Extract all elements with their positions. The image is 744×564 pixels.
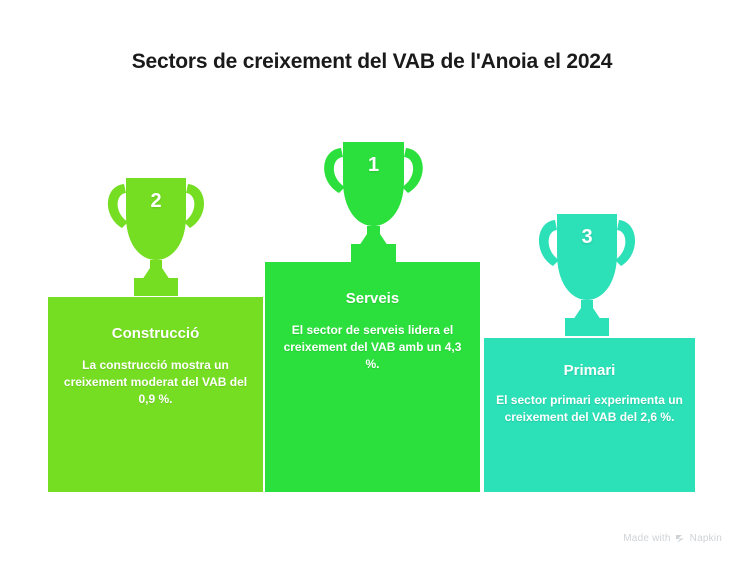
podium-label-primari: Primari <box>484 362 695 380</box>
trophy-rank-label-3: 3 <box>531 226 643 249</box>
trophy-icon-rank-2: 2 <box>100 168 212 298</box>
napkin-watermark: Made with Napkin <box>623 533 722 544</box>
podium-block-primari[interactable]: Primari El sector primari experimenta un… <box>484 338 695 492</box>
podium-description-primari: El sector primari experimenta un creixem… <box>484 392 695 426</box>
podium-label-serveis: Serveis <box>265 290 480 308</box>
podium-description-serveis: El sector de serveis lidera el creixemen… <box>265 322 480 373</box>
podium-description-construccio: La construcció mostra un creixement mode… <box>48 357 263 408</box>
trophy-rank-label-2: 2 <box>100 190 212 213</box>
podium-block-serveis[interactable]: Serveis El sector de serveis lidera el c… <box>265 262 480 492</box>
watermark-prefix-label: Made with <box>623 533 670 544</box>
podium-block-construccio[interactable]: Construcció La construcció mostra un cre… <box>48 297 263 492</box>
watermark-brand-label: Napkin <box>690 533 722 544</box>
podium-label-construccio: Construcció <box>48 325 263 343</box>
trophy-icon-rank-3: 3 <box>531 202 643 340</box>
trophy-icon-rank-1: 1 <box>315 132 432 264</box>
page-title: Sectors de creixement del VAB de l'Anoia… <box>0 50 744 74</box>
napkin-logo-icon <box>675 533 686 544</box>
trophy-rank-label-1: 1 <box>315 154 432 177</box>
infographic-canvas: Sectors de creixement del VAB de l'Anoia… <box>0 0 744 564</box>
